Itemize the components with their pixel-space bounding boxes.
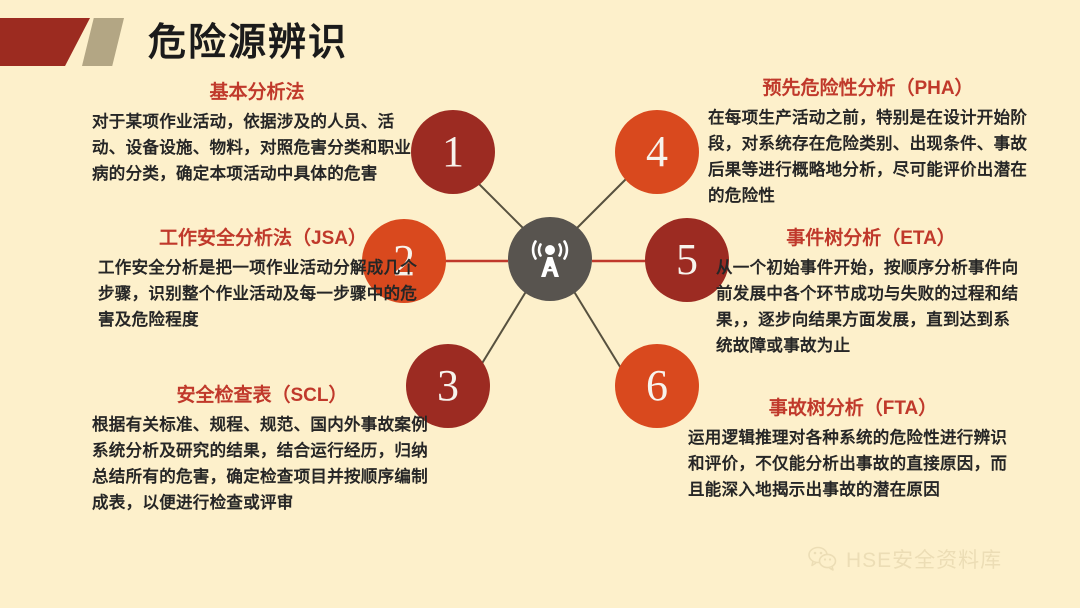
block-body: 运用逻辑推理对各种系统的危险性进行辨识和评价，不仅能分析出事故的直接原因，而且能… [688, 425, 1018, 503]
block-body: 在每项生产活动之前，特别是在设计开始阶段，对系统存在危险类别、出现条件、事故后果… [708, 105, 1028, 209]
slide-canvas: 危险源辨识 1 2 3 4 5 6 [0, 0, 1080, 608]
node-number: 5 [676, 238, 698, 282]
block-body: 根据有关标准、规程、规范、国内外事故案例系统分析及研究的结果，结合运行经历，归纳… [92, 412, 432, 516]
watermark-text: HSE安全资料库 [846, 544, 1002, 574]
page-title: 危险源辨识 [148, 19, 348, 67]
block-body: 对于某项作业活动，依据涉及的人员、活动、设备设施、物料，对照危害分类和职业病的分… [92, 109, 422, 187]
block-heading: 预先危险性分析（PHA） [708, 76, 1028, 102]
block-heading: 工作安全分析法（JSA） [98, 226, 428, 252]
block-fta: 事故树分析（FTA） 运用逻辑推理对各种系统的危险性进行辨识和评价，不仅能分析出… [688, 396, 1018, 503]
node-circle-6[interactable]: 6 [615, 344, 699, 428]
block-heading: 基本分析法 [92, 80, 422, 106]
node-number: 4 [646, 130, 668, 174]
watermark: HSE安全资料库 [808, 544, 1002, 574]
block-scl: 安全检查表（SCL） 根据有关标准、规程、规范、国内外事故案例系统分析及研究的结… [92, 383, 432, 516]
node-circle-1[interactable]: 1 [411, 110, 495, 194]
block-body: 从一个初始事件开始，按顺序分析事件向前发展中各个环节成功与失败的过程和结果，，逐… [716, 255, 1026, 359]
block-eta: 事件树分析（ETA） 从一个初始事件开始，按顺序分析事件向前发展中各个环节成功与… [716, 226, 1026, 359]
wechat-icon [808, 546, 838, 572]
node-number: 1 [442, 130, 464, 174]
header-decoration-red-parallelogram [0, 18, 90, 66]
block-heading: 安全检查表（SCL） [92, 383, 432, 409]
node-circle-4[interactable]: 4 [615, 110, 699, 194]
block-heading: 事故树分析（FTA） [688, 396, 1018, 422]
block-body: 工作安全分析是把一项作业活动分解成几个步骤，识别整个作业活动及每一步骤中的危害及… [98, 255, 428, 333]
block-heading: 事件树分析（ETA） [716, 226, 1026, 252]
block-jsa: 工作安全分析法（JSA） 工作安全分析是把一项作业活动分解成几个步骤，识别整个作… [98, 226, 428, 333]
node-number: 6 [646, 364, 668, 408]
header-decoration-tan-slash [82, 18, 124, 66]
node-number: 3 [437, 364, 459, 408]
radio-tower-icon [526, 235, 574, 283]
central-hub [508, 217, 592, 301]
block-basic-analysis: 基本分析法 对于某项作业活动，依据涉及的人员、活动、设备设施、物料，对照危害分类… [92, 80, 422, 187]
block-pha: 预先危险性分析（PHA） 在每项生产活动之前，特别是在设计开始阶段，对系统存在危… [708, 76, 1028, 209]
